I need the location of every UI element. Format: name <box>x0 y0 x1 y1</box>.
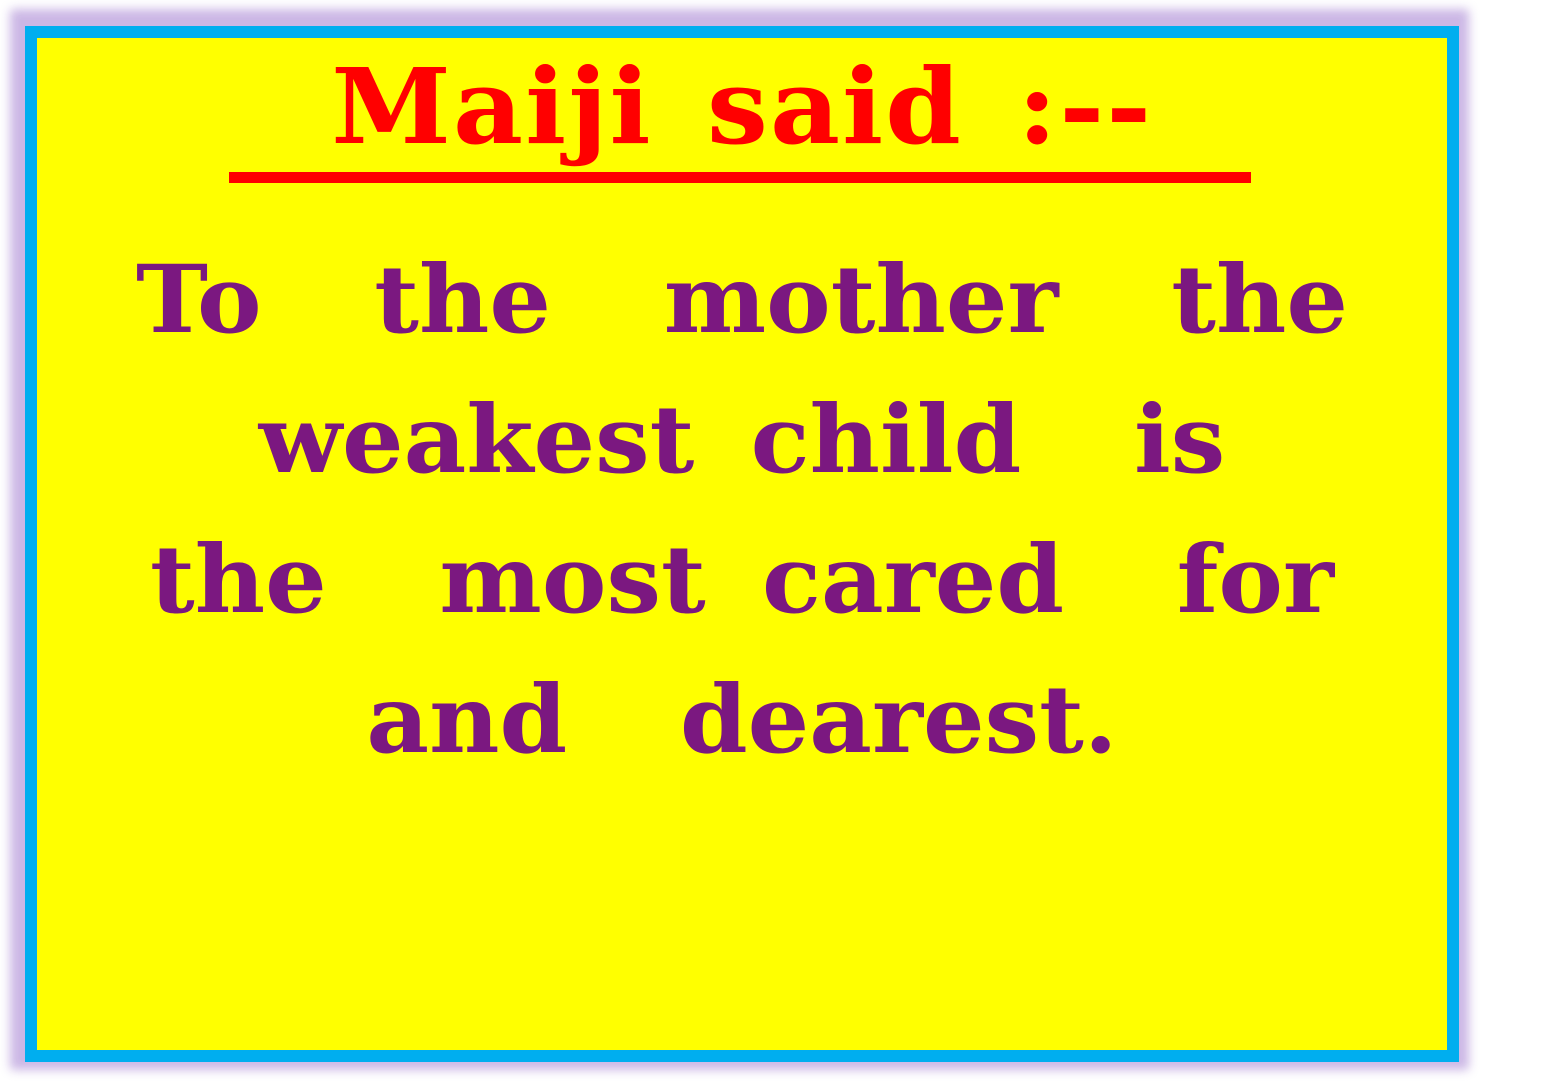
quote-line-4: and dearest. <box>37 650 1447 790</box>
quote-line-3: the most cared for <box>37 510 1447 650</box>
quote-block: To the mother the weakest child is the m… <box>37 230 1447 790</box>
title-block: Maiji said :-- <box>37 54 1447 160</box>
poster-title: Maiji said :-- <box>331 54 1153 160</box>
title-underline-rule <box>229 172 1251 183</box>
poster-root: Maiji said :-- To the mother the weakest… <box>0 0 1560 1087</box>
quote-line-1: To the mother the <box>37 230 1447 370</box>
poster-content-area: Maiji said :-- To the mother the weakest… <box>37 38 1447 1050</box>
quote-line-2: weakest child is <box>37 370 1447 510</box>
